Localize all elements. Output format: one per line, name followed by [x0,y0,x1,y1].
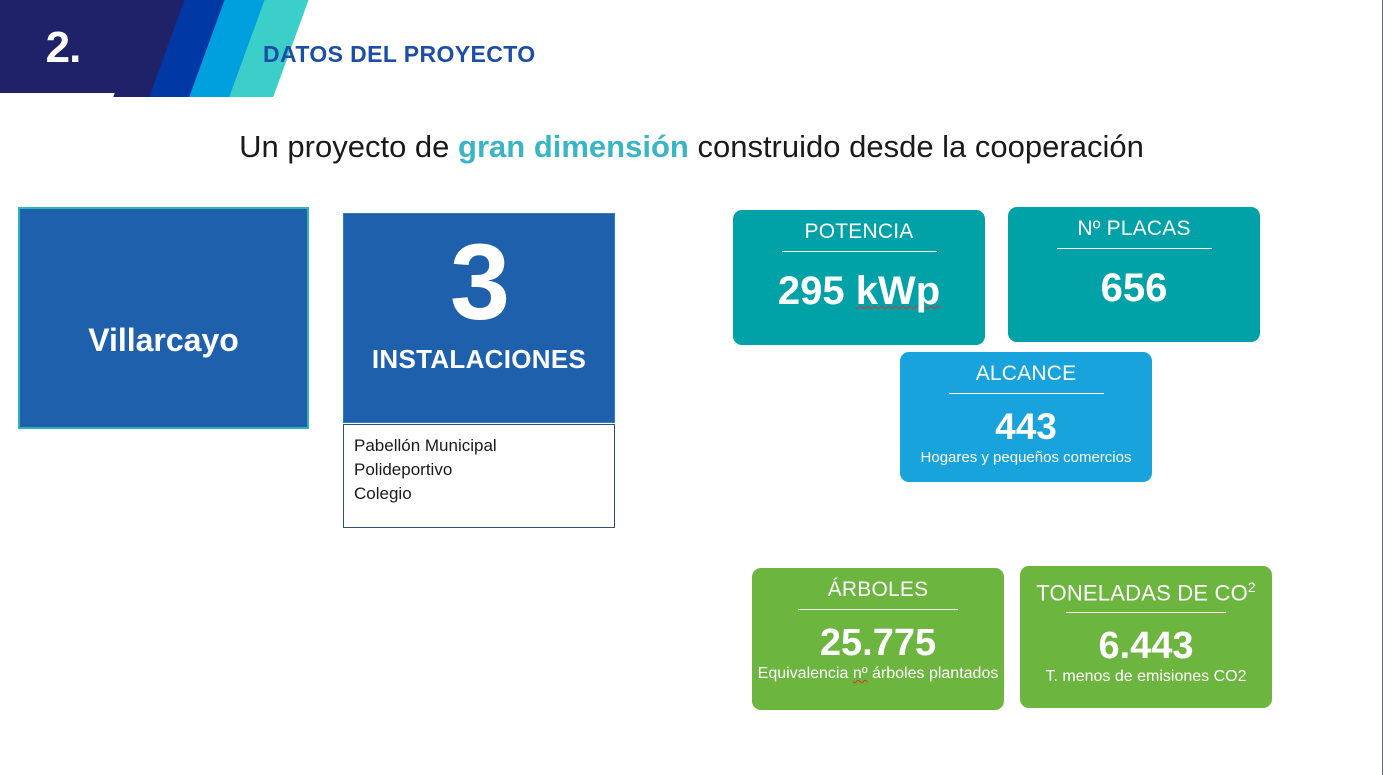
subtitle-suffix: construido desde la cooperación [689,129,1144,164]
location-box: Villarcayo [18,207,309,429]
metric-title: TONELADAS DE CO2 [1020,566,1272,605]
metric-title-text: TONELADAS DE CO [1036,580,1248,605]
metric-title: ALCANCE [900,352,1152,386]
metric-card-co2: TONELADAS DE CO2 6.443 T. menos de emisi… [1020,566,1272,708]
installations-count: 3 [344,222,614,342]
metric-caption: T. menos de emisiones CO2 [1020,668,1272,686]
list-item: Polideportivo [354,458,614,482]
metric-value: 443 [900,408,1152,445]
metric-value-unit: kWp [856,269,940,313]
metric-caption-abbrev: nº [853,665,868,682]
metric-title: ÁRBOLES [752,568,1004,602]
metric-value: 6.443 [1020,627,1272,665]
subtitle-prefix: Un proyecto de [239,129,458,164]
metric-card-placas: Nº PLACAS 656 [1008,207,1260,342]
metric-caption-prefix: Equivalencia [758,665,853,682]
metric-value: 295 kWp [733,271,985,311]
metric-divider [949,393,1104,394]
list-item: Colegio [354,482,614,506]
installations-list: Pabellón Municipal Polideportivo Colegio [343,424,615,528]
metric-title-superscript: 2 [1248,580,1256,595]
metric-caption: Equivalencia nº árboles plantados [752,665,1004,683]
location-name: Villarcayo [88,322,239,359]
metric-divider [798,609,958,610]
metric-divider [1066,612,1226,613]
metric-card-arboles: ÁRBOLES 25.775 Equivalencia nº árboles p… [752,568,1004,710]
metric-card-alcance: ALCANCE 443 Hogares y pequeños comercios [900,352,1152,482]
metric-title: POTENCIA [733,210,985,244]
metric-card-potencia: POTENCIA 295 kWp [733,210,985,345]
page-title: DATOS DEL PROYECTO [263,41,536,68]
metric-value: 25.775 [752,624,1004,662]
metric-title: Nº PLACAS [1008,207,1260,241]
metric-divider [1057,248,1212,249]
list-item: Pabellón Municipal [354,434,614,458]
installations-box: 3 INSTALACIONES [343,213,615,423]
header-band [0,0,1383,93]
section-number: 2. [28,24,98,72]
subtitle: Un proyecto de gran dimensión construido… [0,129,1383,165]
metric-value: 656 [1008,268,1260,308]
metric-caption: Hogares y pequeños comercios [900,449,1152,467]
metric-value-number: 295 [778,269,856,313]
metric-caption-suffix: árboles plantados [868,665,999,682]
subtitle-highlight: gran dimensión [458,129,689,164]
installations-label: INSTALACIONES [344,344,614,375]
metric-divider [782,251,937,252]
slide-canvas: 2. DATOS DEL PROYECTO Un proyecto de gra… [0,0,1383,775]
